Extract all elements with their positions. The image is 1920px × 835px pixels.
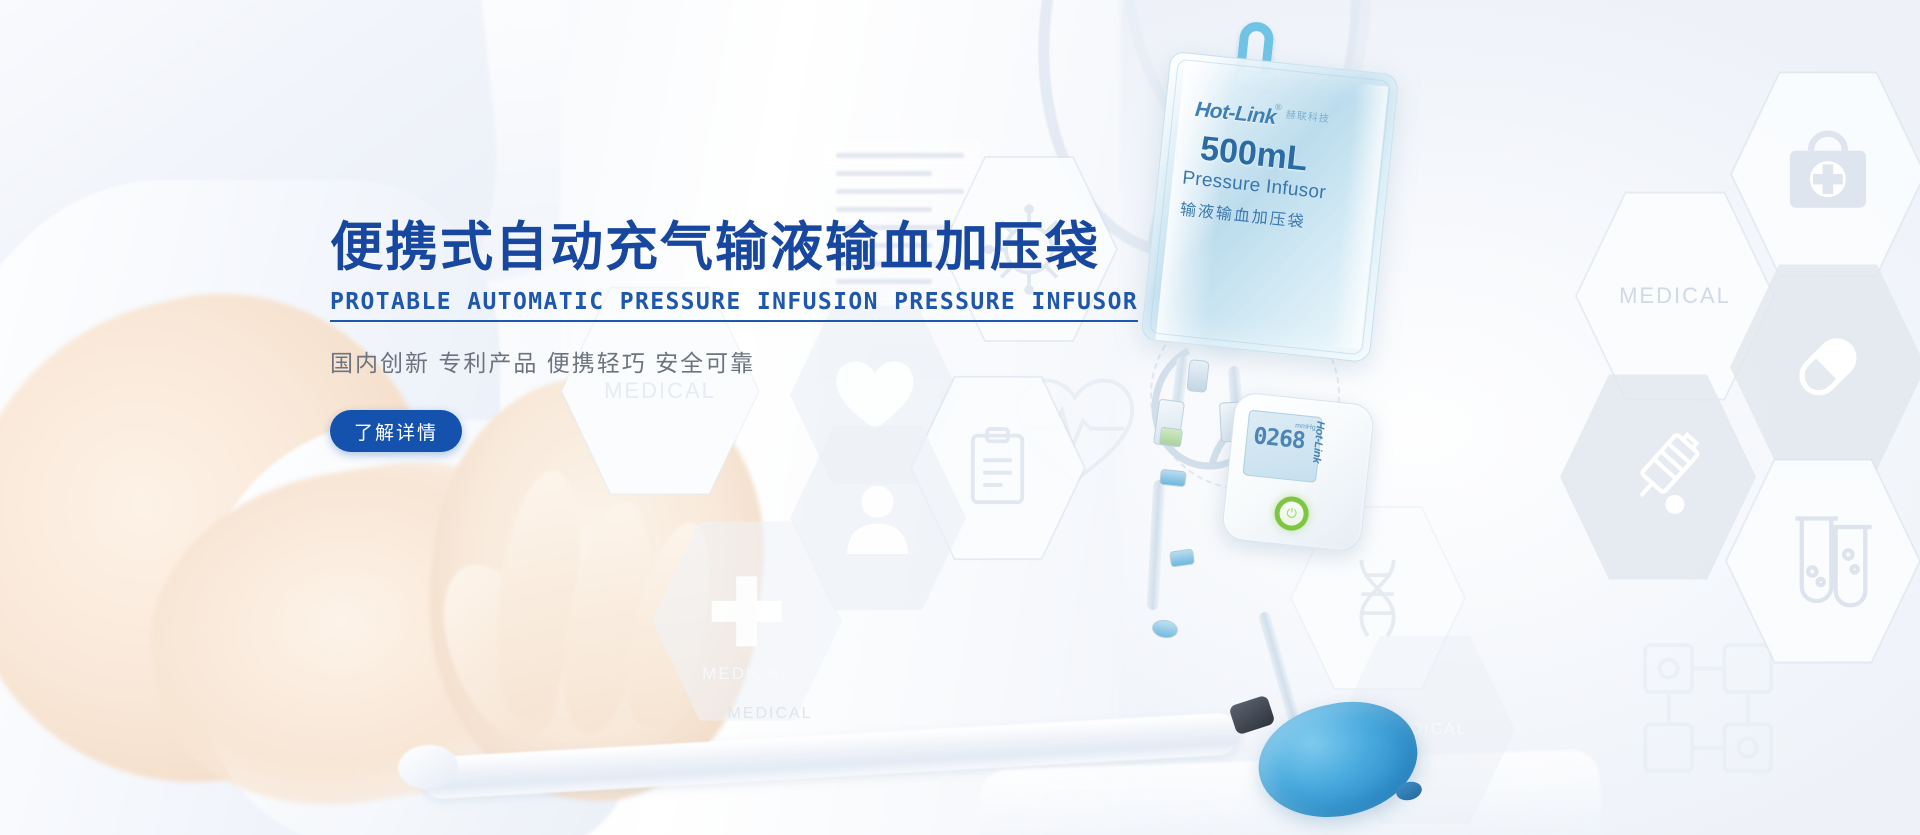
blue-valve-connector <box>1151 618 1180 640</box>
banner-copy-block: 便携式自动充气输液输血加压袋 PROTABLE AUTOMATIC PRESSU… <box>330 218 1030 452</box>
page-subtitle: PROTABLE AUTOMATIC PRESSURE INFUSION PRE… <box>330 289 1138 315</box>
device-power-button[interactable]: ⏻ <box>1273 495 1310 532</box>
iv-tubing-segment <box>1147 480 1166 610</box>
bag-registered-mark: ® <box>1274 102 1282 113</box>
green-valve-connector <box>1159 427 1183 448</box>
power-icon: ⏻ <box>1286 505 1298 522</box>
product-photograph: Hot-Link ® 赫联科技 500mL Pressure Infusor 输… <box>1060 10 1920 835</box>
watermark-medical-caption: MEDICAL <box>700 705 840 723</box>
page-title: 便携式自动充气输液输血加压袋 <box>330 218 1030 277</box>
page-tagline: 国内创新 专利产品 便携轻巧 安全可靠 <box>330 344 1030 378</box>
product-hero-banner: MEDICAL <box>0 0 1920 835</box>
roller-clamp <box>1186 359 1209 393</box>
blue-valve-connector <box>1169 548 1195 567</box>
subtitle-underline-wrap: PROTABLE AUTOMATIC PRESSURE INFUSION PRE… <box>330 289 1138 322</box>
inflation-bulb-valve <box>1228 695 1275 736</box>
blue-valve-connector <box>1159 469 1187 488</box>
cross-icon <box>703 564 790 659</box>
person-icon <box>830 465 925 571</box>
learn-more-button[interactable]: 了解详情 <box>330 410 462 452</box>
inflation-bulb <box>1248 689 1428 832</box>
pressure-control-device: 0268 mmHg Hot-Link ⏻ <box>1221 391 1376 553</box>
